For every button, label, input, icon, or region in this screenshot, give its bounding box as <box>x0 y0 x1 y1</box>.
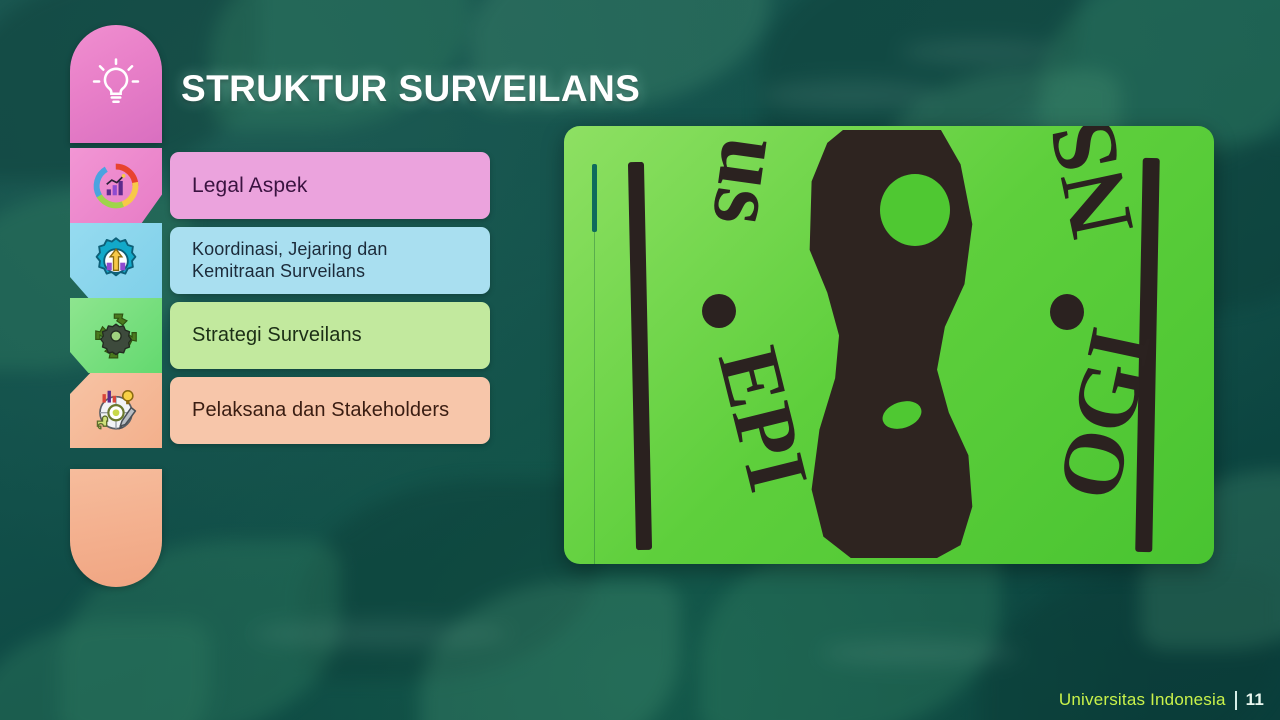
icon-tile-koordinasi <box>70 223 162 298</box>
panel-accent-bar <box>592 164 597 232</box>
label-bar-strategi[interactable]: Strategi Surveilans <box>170 302 490 369</box>
icon-tile-strategi <box>70 298 162 373</box>
footer-divider <box>1235 691 1237 710</box>
blob-hole-large <box>880 174 950 246</box>
list-item[interactable]: Legal Aspek <box>70 148 490 223</box>
ring-dot-left <box>702 294 736 328</box>
list-item[interactable]: Pelaksana dan Stakeholders <box>70 373 490 448</box>
list-item[interactable]: Strategi Surveilans <box>70 298 490 373</box>
list-item-label: Legal Aspek <box>192 173 308 199</box>
icon-tile-legal-aspek <box>70 148 162 223</box>
ring-text-left-top: us <box>698 133 801 232</box>
content-image-panel: us EPI NS OGI <box>564 126 1214 564</box>
label-bar-pelaksana[interactable]: Pelaksana dan Stakeholders <box>170 377 490 444</box>
gear-puzzle-bulb-pencil-icon <box>89 384 143 438</box>
list-item-label: Koordinasi, Jejaring dan Kemitraan Surve… <box>192 239 388 283</box>
lightbulb-badge <box>70 25 162 143</box>
footer-page-number: 11 <box>1246 690 1264 710</box>
ring-text-right-top: NS <box>1034 126 1148 245</box>
list-item[interactable]: Koordinasi, Jejaring dan Kemitraan Surve… <box>70 223 490 298</box>
structure-ribbon: Legal Aspek Koordinasi, Jejaring dan Kem… <box>70 25 490 570</box>
panel-hairline <box>594 232 595 564</box>
panel-left-stripe <box>628 162 652 550</box>
label-bar-legal-aspek[interactable]: Legal Aspek <box>170 152 490 219</box>
footer-institution: Universitas Indonesia <box>1059 690 1226 710</box>
donut-bar-chart-icon <box>89 159 143 213</box>
gear-arrow-up-icon <box>89 234 143 288</box>
label-bar-koordinasi[interactable]: Koordinasi, Jejaring dan Kemitraan Surve… <box>170 227 490 294</box>
list-item-label: Pelaksana dan Stakeholders <box>192 398 449 422</box>
slide-canvas: STRUKTUR SURVEILANS <box>0 0 1280 720</box>
icon-tile-pelaksana <box>70 373 162 448</box>
ring-text-left-bottom: EPI <box>705 339 823 499</box>
footer: Universitas Indonesia 11 <box>1059 690 1264 710</box>
list-item-label: Strategi Surveilans <box>192 323 362 347</box>
lightbulb-icon <box>89 57 143 111</box>
gear-cycle-arrows-icon <box>89 309 143 363</box>
ribbon-bottom-cap <box>70 469 162 587</box>
